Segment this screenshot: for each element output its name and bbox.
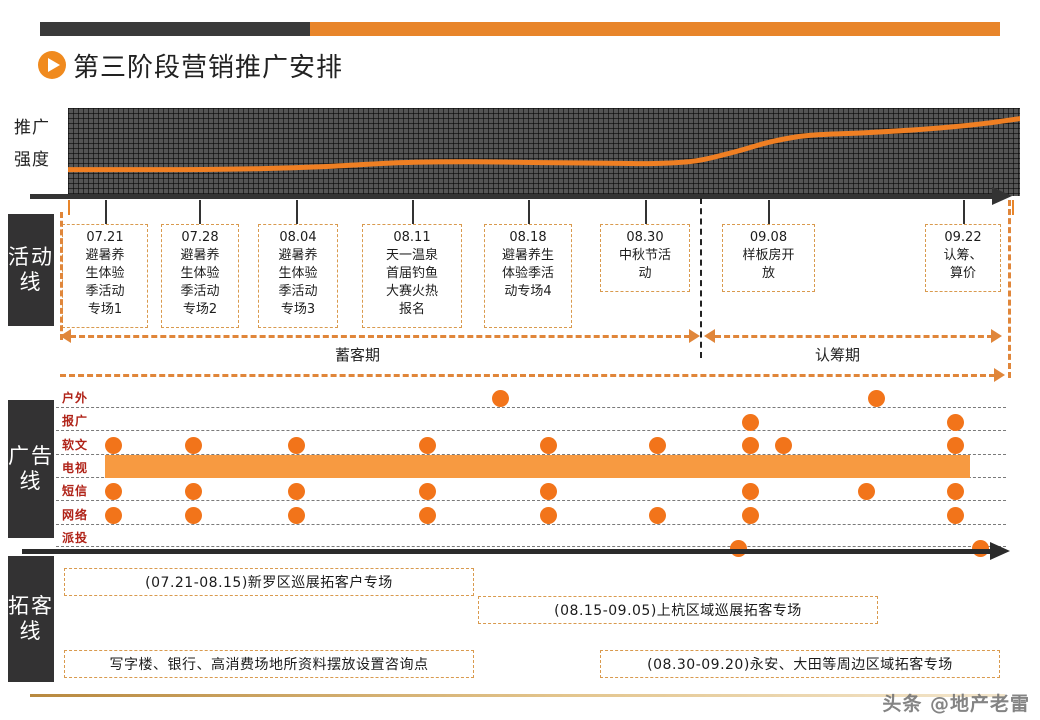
advert-dot-sms[interactable] [419, 483, 436, 500]
period-arrow-right-icon [689, 329, 700, 343]
activity-event-box[interactable]: 08.11 天一温泉 首届钓鱼 大赛火热 报名 [362, 224, 462, 328]
advert-dot-network[interactable] [185, 507, 202, 524]
activity-event-date: 08.30 [626, 230, 663, 245]
event-stem-7 [768, 202, 770, 224]
watermark: 头条 @地产老雷 [882, 689, 1030, 716]
page-title: 第三阶段营销推广安排 [73, 47, 343, 84]
activity-event-text: 07.21 避暑养 生体验 季活动 专场1 [85, 229, 124, 319]
activity-event-box[interactable]: 08.04 避暑养 生体验 季活动 专场3 [258, 224, 338, 328]
activity-event-text: 08.18 避暑养生 体验季活 动专场4 [502, 229, 554, 301]
expand-block-shanghang[interactable]: (08.15-09.05)上杭区域巡展拓客专场 [478, 596, 878, 624]
activity-event-box[interactable]: 09.08 样板房开 放 [722, 224, 815, 292]
activity-event-date: 08.11 [393, 230, 430, 245]
section-label-expand-line: 拓客线 [8, 556, 54, 682]
activity-event-box[interactable]: 07.21 避暑养 生体验 季活动 专场1 [62, 224, 148, 328]
advert-channel-label-softtext: 软文 [62, 436, 88, 453]
event-stem-4 [412, 202, 414, 224]
header-rule-orange [310, 22, 1000, 36]
chart-y-axis-label: 推广 强度 [14, 112, 66, 176]
chart-line-series [68, 108, 1020, 196]
header-rule [40, 22, 1000, 36]
expand-axis-arrow-icon [990, 542, 1010, 560]
section-label-activity-line-text: 活动线 [8, 245, 54, 295]
advert-channel-label-network: 网络 [62, 506, 88, 523]
advert-channel-label-tv: 电视 [62, 459, 88, 476]
promotion-intensity-chart: 推广 强度 [0, 104, 1040, 200]
activity-event-box[interactable]: 07.28 避暑养 生体验 季活动 专场2 [161, 224, 239, 328]
activity-event-date: 08.18 [509, 230, 546, 245]
activity-event-box[interactable]: 09.22 认筹、 算价 [925, 224, 1001, 292]
advert-dot-network[interactable] [742, 507, 759, 524]
advert-dot-sms[interactable] [288, 483, 305, 500]
advert-dot-softtext[interactable] [185, 437, 202, 454]
advert-dot-outdoor[interactable] [868, 390, 885, 407]
section-label-advert-line: 广告线 [8, 400, 54, 538]
axis-tick-start [68, 200, 70, 215]
activity-event-text: 09.08 样板房开 放 [742, 229, 794, 283]
header-rule-dark [40, 22, 310, 36]
advert-dot-sms[interactable] [105, 483, 122, 500]
chart-plot-area [68, 108, 1020, 196]
advert-dot-network[interactable] [947, 507, 964, 524]
advert-dot-network[interactable] [105, 507, 122, 524]
advert-dot-sms[interactable] [185, 483, 202, 500]
period-full-arrow-icon [994, 368, 1005, 382]
activity-event-text: 07.28 避暑养 生体验 季活动 专场2 [180, 229, 219, 319]
phase-separator [700, 198, 702, 358]
activity-event-date: 09.22 [944, 230, 981, 245]
chart-y-axis-label-line-1: 推广 [14, 112, 66, 144]
activity-event-date: 08.04 [279, 230, 316, 245]
expand-block-xinluo[interactable]: (07.21-08.15)新罗区巡展拓客户专场 [64, 568, 474, 596]
period-line-accumulation [70, 335, 690, 338]
period-arrow-left-icon-2 [704, 329, 715, 343]
advert-dot-softtext[interactable] [540, 437, 557, 454]
activity-event-box[interactable]: 08.30 中秋节活 动 [600, 224, 690, 292]
advert-row-line-sms [56, 500, 1006, 501]
advert-dot-softtext[interactable] [775, 437, 792, 454]
advert-dot-softtext[interactable] [288, 437, 305, 454]
expand-block-consult-point[interactable]: 写字楼、银行、高消费场地所资料摆放设置咨询点 [64, 650, 474, 678]
event-stem-3 [296, 202, 298, 224]
advert-dot-sms[interactable] [540, 483, 557, 500]
advert-dot-network[interactable] [540, 507, 557, 524]
advert-dot-softtext[interactable] [105, 437, 122, 454]
expand-block-yongan[interactable]: (08.30-09.20)永安、大田等周边区域拓客专场 [600, 650, 1000, 678]
advert-channel-label-delivery: 派投 [62, 529, 88, 546]
axis-tick-end [1012, 200, 1014, 215]
page-title-row: 第三阶段营销推广安排 [37, 47, 343, 83]
event-stem-6 [645, 202, 647, 224]
advert-row-line-network [56, 524, 1006, 525]
timeline-main-axis [30, 191, 1020, 201]
advert-dot-softtext[interactable] [742, 437, 759, 454]
advert-dot-sms[interactable] [947, 483, 964, 500]
advert-channel-label-outdoor: 户外 [62, 389, 88, 406]
event-stem-1 [105, 202, 107, 224]
advert-dot-network[interactable] [419, 507, 436, 524]
period-arrow-right-icon-2 [991, 329, 1002, 343]
advert-dot-network[interactable] [649, 507, 666, 524]
section-label-expand-line-text: 拓客线 [8, 594, 54, 644]
advert-dot-press[interactable] [742, 414, 759, 431]
advert-row-line-outdoor [56, 407, 1006, 408]
period-line-subscription [715, 335, 993, 338]
section-label-advert-line-text: 广告线 [8, 444, 54, 494]
advert-dot-press[interactable] [947, 414, 964, 431]
advert-tv-campaign-bar [105, 455, 970, 478]
advert-dot-softtext[interactable] [947, 437, 964, 454]
period-left-bound [60, 212, 63, 340]
expand-axis-line [22, 549, 994, 554]
watermark-text: 头条 @地产老雷 [882, 689, 1030, 716]
period-right-bound [1008, 200, 1011, 378]
footer-rule [30, 694, 1005, 697]
period-arrow-left-icon [60, 329, 71, 343]
activity-event-box[interactable]: 08.18 避暑养生 体验季活 动专场4 [484, 224, 572, 328]
chart-y-axis-label-line-2: 强度 [14, 144, 66, 176]
period-label-accumulation: 蓄客期 [335, 344, 380, 365]
advert-dot-sms[interactable] [858, 483, 875, 500]
activity-event-text: 08.11 天一温泉 首届钓鱼 大赛火热 报名 [386, 229, 438, 319]
event-stem-5 [528, 202, 530, 224]
event-stem-2 [199, 202, 201, 224]
activity-event-text: 08.04 避暑养 生体验 季活动 专场3 [278, 229, 317, 319]
advert-dot-outdoor[interactable] [492, 390, 509, 407]
advert-dot-softtext[interactable] [419, 437, 436, 454]
advert-dot-sms[interactable] [742, 483, 759, 500]
section-label-activity-line: 活动线 [8, 214, 54, 326]
activity-event-date: 07.21 [86, 230, 123, 245]
advert-channel-label-press: 报广 [62, 412, 88, 429]
advert-row-line-delivery [56, 546, 1006, 547]
advert-channel-label-sms: 短信 [62, 482, 88, 499]
timeline-main-axis-line [30, 194, 998, 199]
period-label-subscription: 认筹期 [815, 344, 860, 365]
advert-dot-network[interactable] [288, 507, 305, 524]
event-stem-8 [963, 202, 965, 224]
play-triangle-icon [37, 50, 67, 80]
advert-row-line-press [56, 430, 1006, 431]
activity-event-date: 07.28 [181, 230, 218, 245]
activity-event-text: 09.22 认筹、 算价 [943, 229, 982, 283]
advert-dot-softtext[interactable] [649, 437, 666, 454]
period-line-full [60, 374, 995, 377]
activity-event-date: 09.08 [750, 230, 787, 245]
activity-event-text: 08.30 中秋节活 动 [619, 229, 671, 283]
